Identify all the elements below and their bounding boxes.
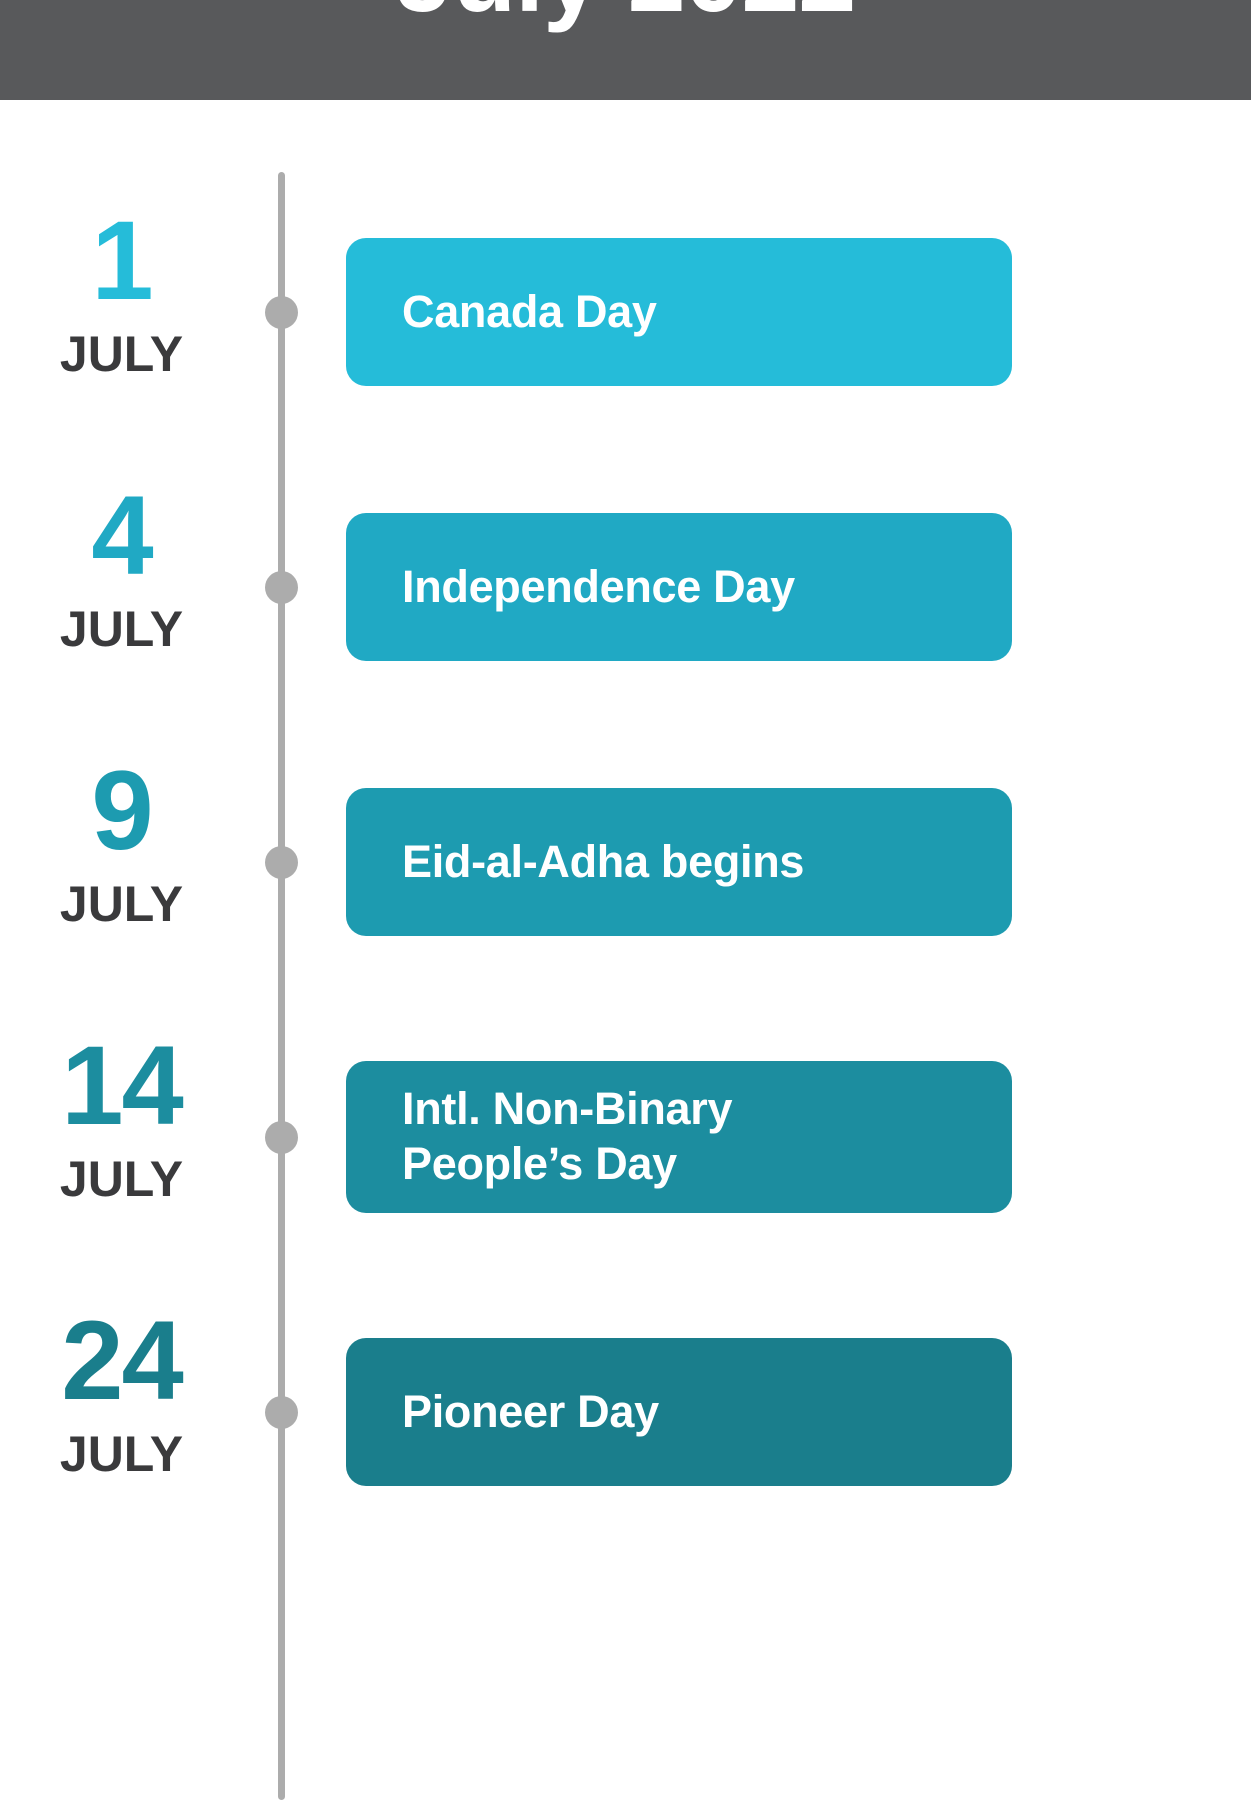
month-label: JULY bbox=[0, 1154, 243, 1204]
date-block: 24JULY bbox=[0, 1272, 243, 1547]
timeline-dot bbox=[265, 1121, 298, 1154]
timeline-entry: 4JULYIndependence Day bbox=[0, 447, 1251, 722]
timeline: 1JULYCanada Day4JULYIndependence Day9JUL… bbox=[0, 100, 1251, 1800]
date-block: 4JULY bbox=[0, 447, 243, 722]
day-number: 14 bbox=[0, 1030, 243, 1142]
event-card[interactable]: Independence Day bbox=[346, 513, 1012, 661]
timeline-dot bbox=[265, 296, 298, 329]
day-number: 4 bbox=[0, 480, 243, 592]
timeline-entry: 9JULYEid-al-Adha begins bbox=[0, 722, 1251, 997]
event-label-line-1: Intl. Non-Binary bbox=[402, 1082, 732, 1137]
month-label: JULY bbox=[0, 879, 243, 929]
event-label: Pioneer Day bbox=[346, 1385, 687, 1440]
event-card[interactable]: Pioneer Day bbox=[346, 1338, 1012, 1486]
month-label: JULY bbox=[0, 329, 243, 379]
timeline-entry: 14JULYIntl. Non-BinaryPeople’s Day bbox=[0, 997, 1251, 1272]
event-label: Canada Day bbox=[346, 285, 685, 340]
month-label: JULY bbox=[0, 604, 243, 654]
header-bar: July 2022 bbox=[0, 0, 1251, 100]
event-card[interactable]: Intl. Non-BinaryPeople’s Day bbox=[346, 1061, 1012, 1213]
timeline-dot bbox=[265, 1396, 298, 1429]
day-number: 24 bbox=[0, 1305, 243, 1417]
date-block: 9JULY bbox=[0, 722, 243, 997]
event-card[interactable]: Eid-al-Adha begins bbox=[346, 788, 1012, 936]
event-label: Eid-al-Adha begins bbox=[346, 835, 832, 890]
event-card[interactable]: Canada Day bbox=[346, 238, 1012, 386]
page-title: July 2022 bbox=[0, 0, 1251, 28]
event-label: Independence Day bbox=[346, 560, 823, 615]
day-number: 1 bbox=[0, 205, 243, 317]
date-block: 14JULY bbox=[0, 997, 243, 1272]
timeline-entry: 24JULYPioneer Day bbox=[0, 1272, 1251, 1547]
timeline-dot bbox=[265, 846, 298, 879]
timeline-dot bbox=[265, 571, 298, 604]
event-label: Intl. Non-BinaryPeople’s Day bbox=[346, 1082, 760, 1192]
month-label: JULY bbox=[0, 1429, 243, 1479]
timeline-entry: 1JULYCanada Day bbox=[0, 172, 1251, 447]
date-block: 1JULY bbox=[0, 172, 243, 447]
event-label-line-2: People’s Day bbox=[402, 1137, 732, 1192]
day-number: 9 bbox=[0, 755, 243, 867]
